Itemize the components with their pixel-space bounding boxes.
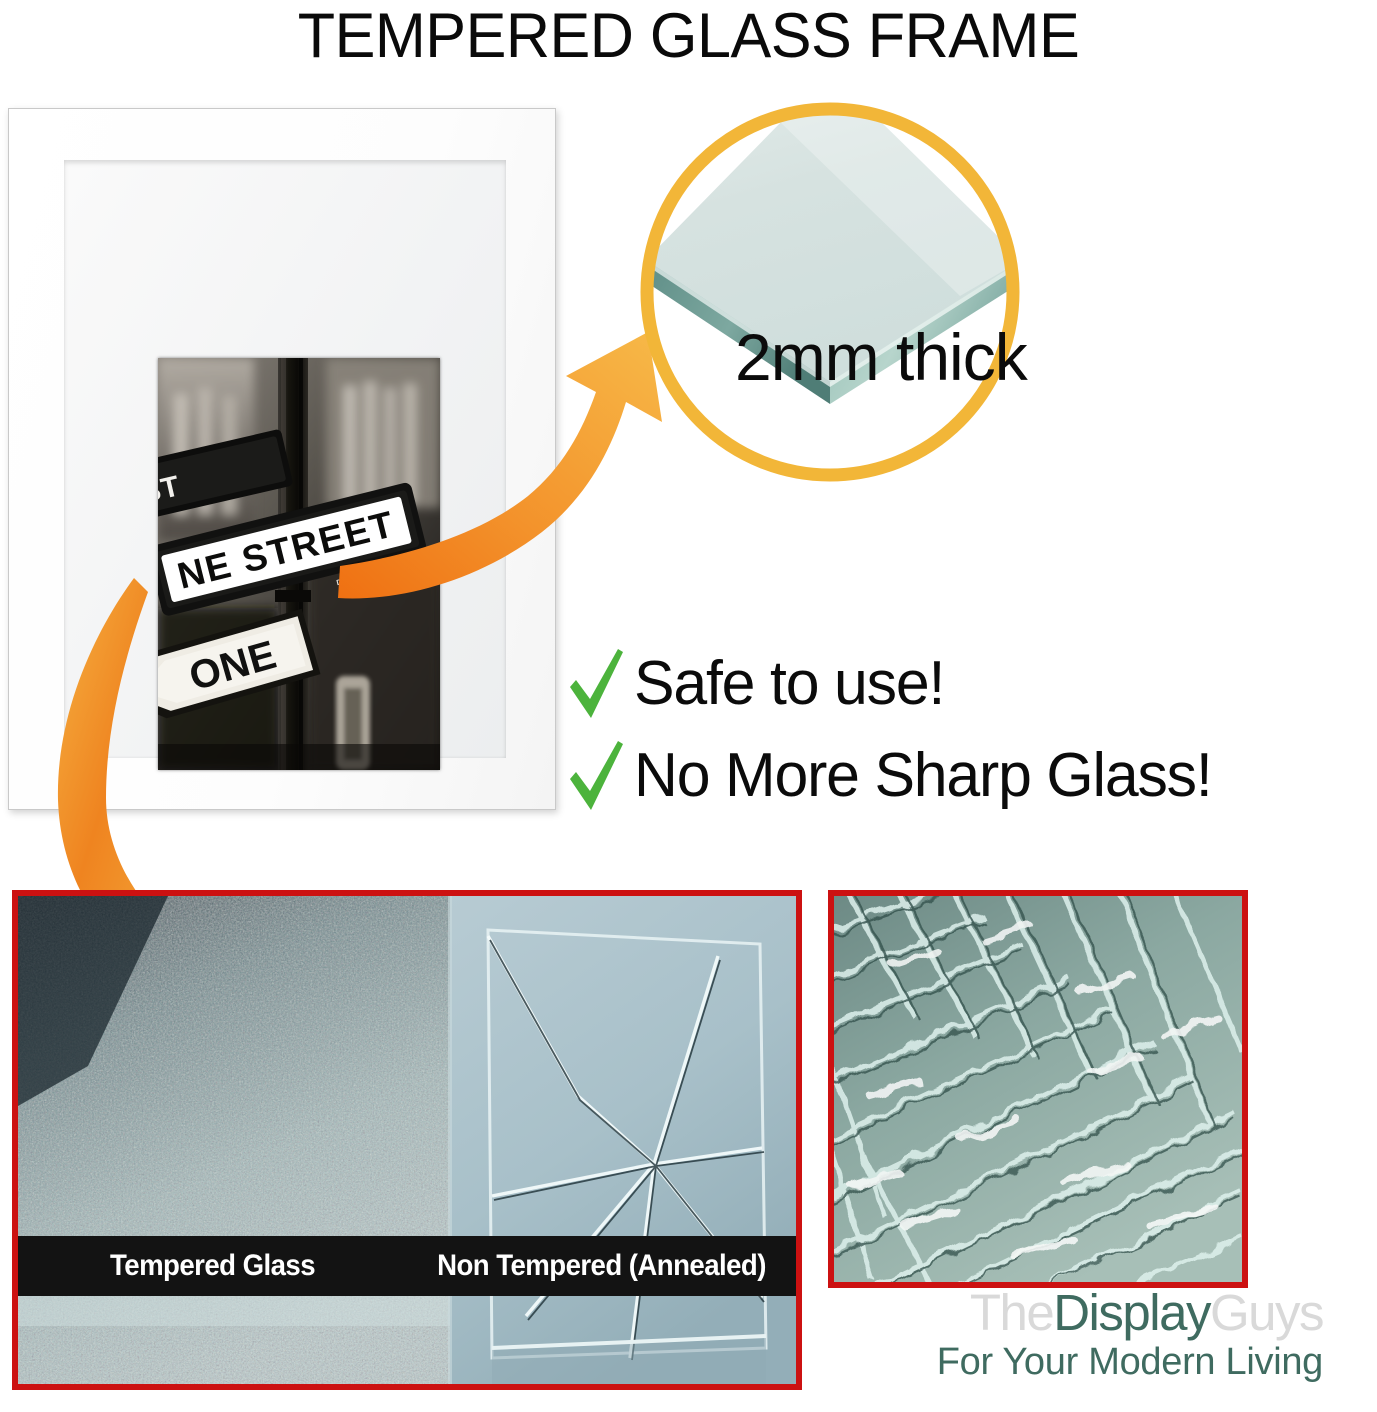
glass-comparison-panel: Tempered Glass Non Tempered (Annealed): [12, 890, 802, 1390]
frame-photo: ST NE STREET DEPT. OF TRANSPORTATION ONE: [158, 358, 440, 770]
benefits-checklist: Safe to use! No More Sharp Glass!: [566, 638, 1366, 822]
checklist-item-label: Safe to use!: [634, 651, 944, 717]
thickness-callout: [630, 92, 1030, 492]
checklist-item: No More Sharp Glass!: [566, 730, 1366, 822]
page-title: TEMPERED GLASS FRAME: [21, 2, 1357, 70]
checklist-item-label: No More Sharp Glass!: [634, 743, 1212, 809]
glass-sheet-illustration: [630, 92, 1030, 492]
comparison-caption-band: Tempered Glass Non Tempered (Annealed): [18, 1236, 796, 1296]
shattered-tempered-glass-photo: [834, 896, 1242, 1282]
caption-annealed: Non Tempered (Annealed): [423, 1249, 781, 1283]
street-sign-photo: ST NE STREET DEPT. OF TRANSPORTATION ONE: [158, 358, 440, 770]
brand-logo: TheDisplayGuys For Your Modern Living: [937, 1286, 1323, 1384]
brand-the: The: [970, 1284, 1053, 1341]
checkmark-icon: [566, 739, 626, 813]
brand-wordmark: TheDisplayGuys: [937, 1286, 1323, 1340]
brand-tagline: For Your Modern Living: [937, 1340, 1323, 1384]
checkmark-icon: [566, 647, 626, 721]
picture-frame: ST NE STREET DEPT. OF TRANSPORTATION ONE: [8, 108, 556, 810]
shattered-glass-closeup-panel: [828, 890, 1248, 1288]
comparison-photo: [18, 896, 796, 1384]
checklist-item: Safe to use!: [566, 638, 1366, 730]
brand-guys: Guys: [1210, 1284, 1323, 1341]
caption-tempered: Tempered Glass: [34, 1249, 392, 1283]
brand-display: Display: [1053, 1284, 1210, 1341]
thickness-label: 2mm thick: [735, 322, 1027, 392]
